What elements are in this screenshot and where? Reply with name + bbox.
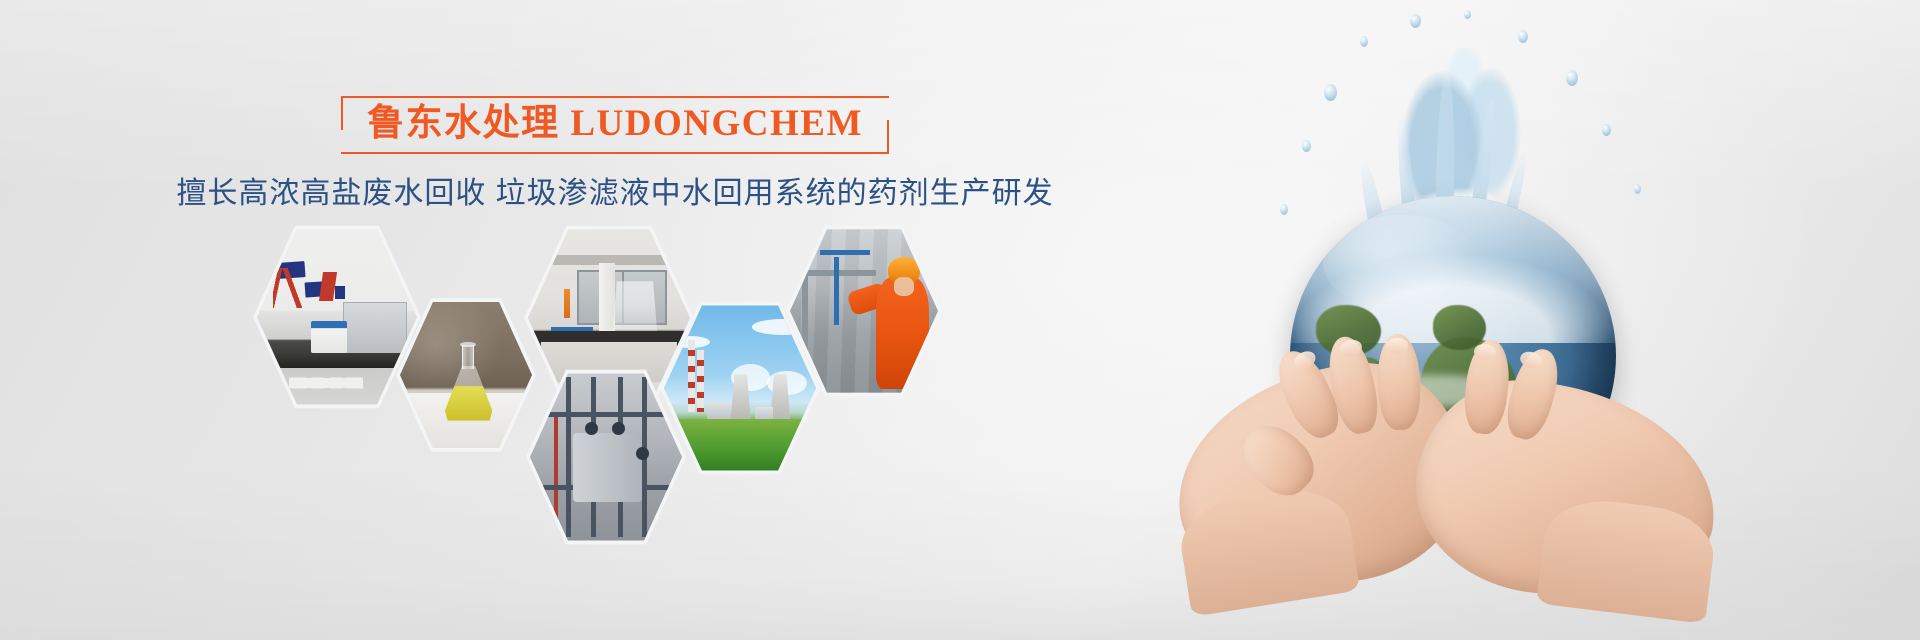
water-droplet [1302, 140, 1311, 152]
page-subtitle: 擅长高浓高盐废水回收 垃圾渗滤液中水回用系统的药剂生产研发 [0, 174, 1230, 214]
pipe-tank [573, 433, 643, 503]
hex-tile-pipes[interactable] [526, 366, 686, 548]
flask-rim [460, 342, 476, 347]
pipe-red [554, 415, 558, 526]
water-droplet [1324, 84, 1337, 101]
pipe-vertical [566, 377, 571, 537]
lab-cabinet [343, 302, 407, 357]
hex-photo-pipes [530, 370, 682, 544]
hex-photo-flask [400, 299, 532, 451]
hex-photo-lab-slogan [257, 226, 417, 408]
title-frame: 鲁东水处理 LUDONGCHEM [341, 96, 889, 154]
wrist-right [1536, 494, 1718, 624]
hands [1166, 330, 1726, 630]
water-droplet [1566, 70, 1578, 86]
flask-neck [462, 345, 474, 369]
facility-blue-pipe [820, 250, 870, 255]
smokestack [688, 340, 695, 412]
facility-blue-pipe [834, 257, 839, 325]
lab-bottles [289, 368, 363, 393]
green-field [664, 419, 816, 474]
hex-tile-lab-slogan[interactable] [253, 222, 421, 412]
water-droplet [1634, 184, 1641, 194]
banner: 鲁东水处理 LUDONGCHEM 擅长高浓高盐废水回收 垃圾渗滤液中水回用系统的… [0, 0, 1920, 640]
hex-photo-worker [790, 226, 938, 396]
lab-bench [263, 353, 413, 368]
page-title: 鲁东水处理 LUDONGCHEM [367, 102, 863, 146]
smokestack [697, 350, 704, 412]
globe-highlight [1323, 215, 1479, 311]
bracket-bottom-right-icon [873, 120, 889, 154]
title-bottom-rule [341, 152, 875, 154]
lab-orange-stand [564, 289, 570, 318]
slogan-arrow [273, 268, 350, 308]
title-top-rule [355, 96, 889, 98]
hand-right [1404, 369, 1727, 614]
pipe-valve [585, 422, 598, 435]
lab-glassware [612, 281, 657, 336]
water-droplet [1518, 30, 1528, 43]
headline-block: 鲁东水处理 LUDONGCHEM 擅长高浓高盐废水回收 垃圾渗滤液中水回用系统的… [0, 96, 1230, 214]
lab-bench [528, 331, 690, 342]
water-droplet [1410, 14, 1421, 28]
wrist-left [1175, 482, 1360, 617]
water-droplet [1360, 36, 1368, 47]
bracket-top-left-icon [341, 96, 357, 130]
water-droplet [1280, 204, 1288, 215]
water-droplet [1602, 124, 1611, 136]
pipe-valve [636, 447, 649, 460]
water-droplet [1464, 10, 1471, 19]
pipe-horizontal [536, 412, 676, 417]
worker-face [894, 277, 915, 296]
lab-machine [311, 321, 346, 354]
